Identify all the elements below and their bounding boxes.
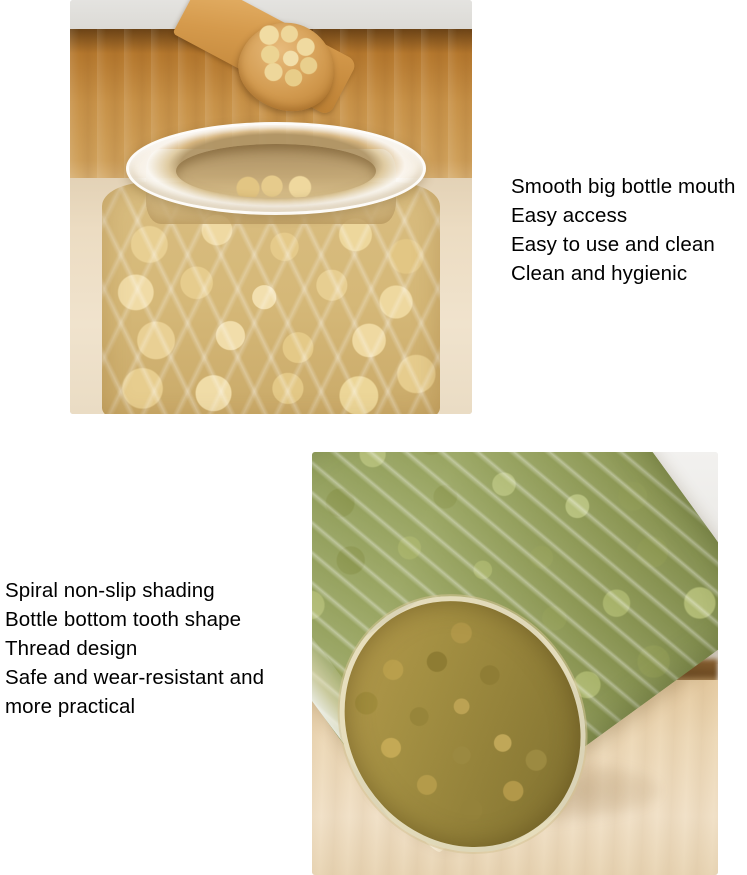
feature-line-easy-access: Easy access [511, 201, 736, 230]
feature-line-thread-design: Thread design [5, 634, 264, 663]
feature-line-easy-to-use-and-clean: Easy to use and clean [511, 230, 736, 259]
product-photo-bottle-mouth [70, 0, 472, 414]
product-photo-bottle-bottom [312, 452, 718, 875]
feature-line-safe-and-wear-resistant: Safe and wear-resistant and [5, 663, 264, 692]
bottle-bottom-feature-text: Spiral non-slip shading Bottle bottom to… [5, 576, 264, 721]
soybean-jar-wide-mouth [126, 122, 425, 215]
feature-line-clean-and-hygienic: Clean and hygienic [511, 259, 736, 288]
feature-line-bottle-bottom-tooth-shape: Bottle bottom tooth shape [5, 605, 264, 634]
feature-line-spiral-non-slip-shading: Spiral non-slip shading [5, 576, 264, 605]
feature-line-smooth-big-bottle-mouth: Smooth big bottle mouth [511, 172, 736, 201]
soybean-jar-mouth-opening [176, 144, 376, 198]
feature-line-more-practical: more practical [5, 692, 264, 721]
bottle-mouth-feature-text: Smooth big bottle mouth Easy access Easy… [511, 172, 736, 288]
